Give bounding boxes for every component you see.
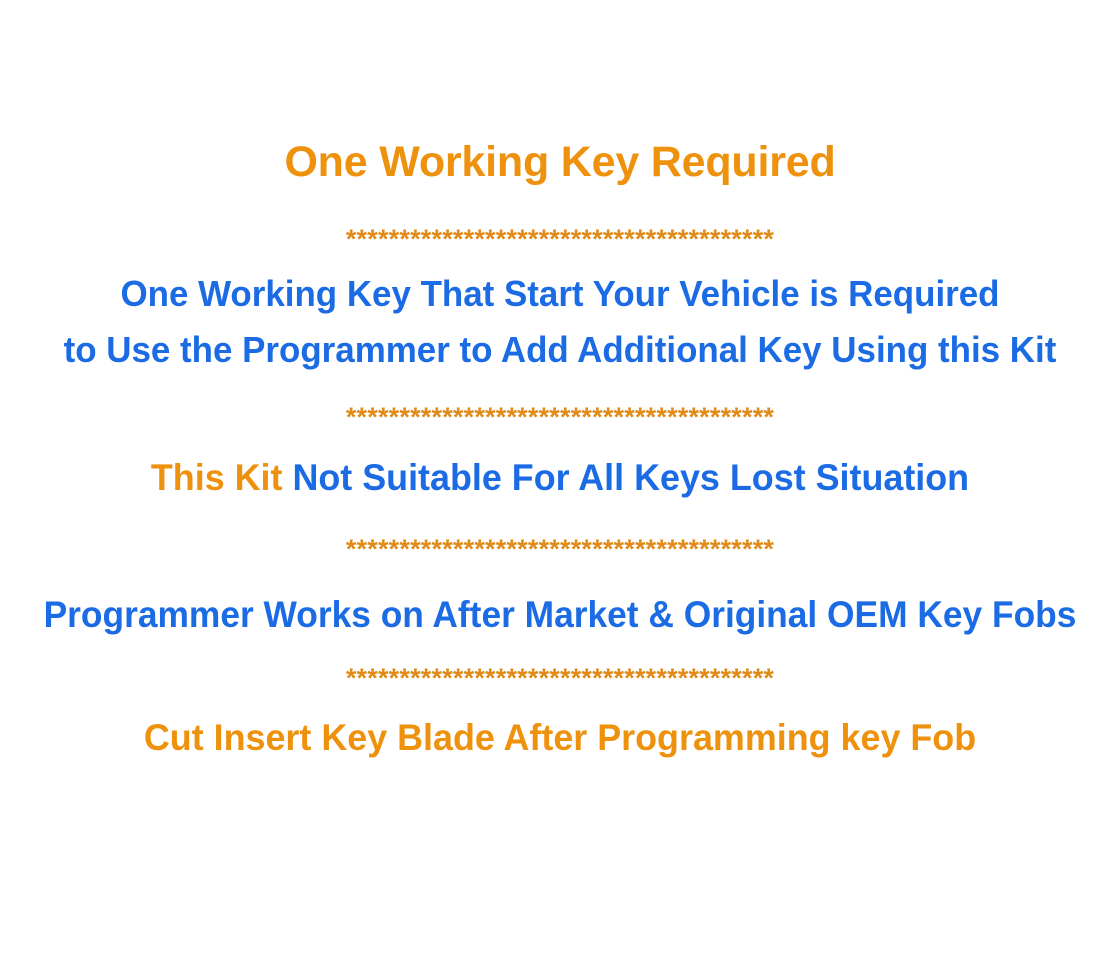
asterisk-divider: **************************************** — [0, 226, 1120, 253]
product-info-graphic: One Working Key Required ***************… — [0, 0, 1120, 956]
programmer-compatibility-statement: Programmer Works on After Market & Origi… — [25, 596, 1095, 633]
asterisk-divider: **************************************** — [0, 404, 1120, 431]
not-suitable-rest-text: Not Suitable For All Keys Lost Situation — [282, 457, 969, 498]
cut-insert-statement: Cut Insert Key Blade After Programming k… — [17, 719, 1103, 756]
asterisk-divider: **************************************** — [0, 665, 1120, 692]
not-suitable-lead-text: This Kit — [151, 457, 283, 498]
page-title: One Working Key Required — [0, 141, 1120, 184]
requirement-line-1: One Working Key That Start Your Vehicle … — [17, 276, 1103, 312]
not-suitable-statement: This Kit Not Suitable For All Keys Lost … — [17, 459, 1103, 496]
asterisk-divider: **************************************** — [0, 536, 1120, 563]
requirement-line-2: to Use the Programmer to Add Additional … — [17, 332, 1103, 368]
